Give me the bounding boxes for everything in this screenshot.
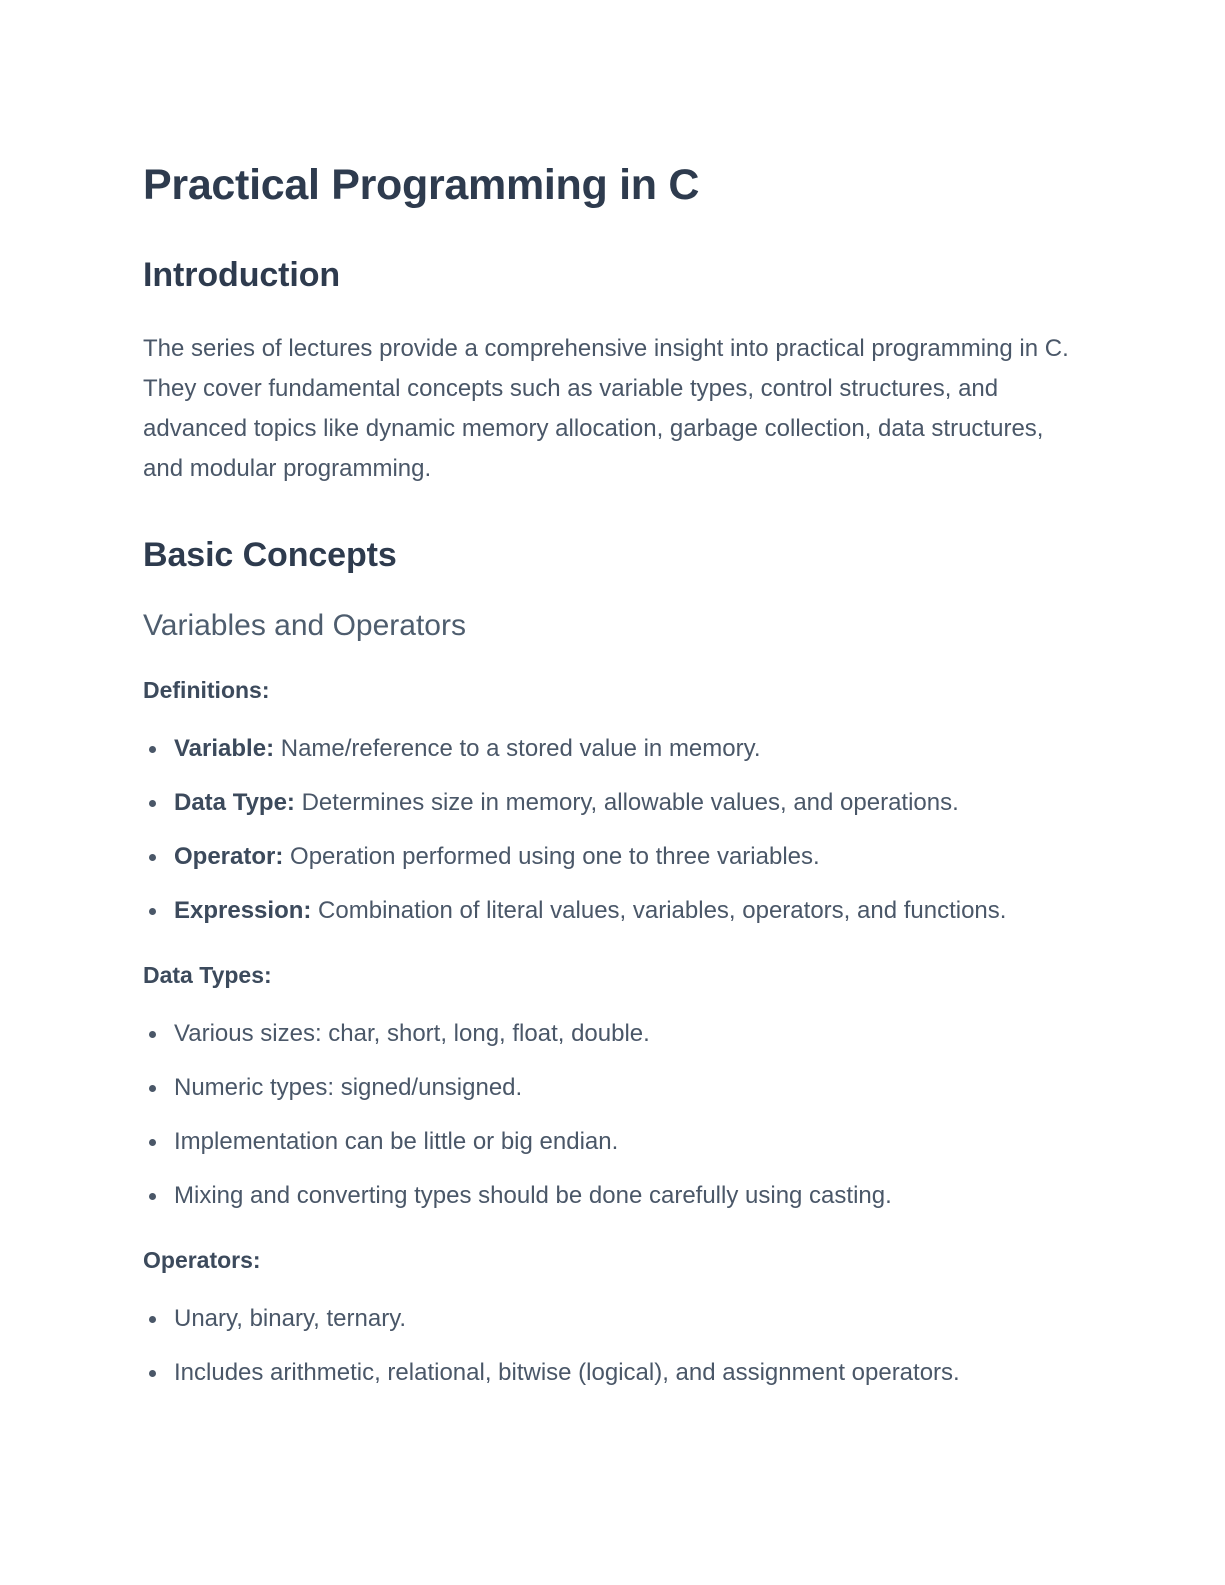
list-item-text: Includes arithmetic, relational, bitwise… [174,1359,960,1386]
bullet-dot-icon [149,1316,156,1323]
list-item-term: Expression: [174,897,311,924]
list-item: Includes arithmetic, relational, bitwise… [143,1353,1083,1393]
list-item-term: Data Type: [174,789,295,816]
list-item-text: Numeric types: signed/unsigned. [174,1074,522,1101]
section-heading-introduction: Introduction [143,255,1083,296]
list-item: Operator: Operation performed using one … [143,837,1083,877]
list-item: Expression: Combination of literal value… [143,891,1083,931]
page-title: Practical Programming in C [143,160,1083,211]
bullet-dot-icon [149,1370,156,1377]
introduction-paragraph: The series of lectures provide a compreh… [143,329,1083,489]
section-heading-basic-concepts: Basic Concepts [143,535,1083,576]
document-content: Practical Programming in C Introduction … [143,160,1083,1421]
bullet-dot-icon [149,908,156,915]
document-page: Practical Programming in C Introduction … [0,0,1225,1585]
list-item-term: Operator: [174,843,283,870]
bullet-dot-icon [149,746,156,753]
list-item-text: Combination of literal values, variables… [311,897,1006,924]
list-item: Data Type: Determines size in memory, al… [143,783,1083,823]
bullet-dot-icon [149,800,156,807]
list-item-term: Variable: [174,735,274,762]
operators-list: Unary, binary, ternary. Includes arithme… [143,1299,1083,1393]
bullet-dot-icon [149,1031,156,1038]
bullet-dot-icon [149,1139,156,1146]
list-item-text: Operation performed using one to three v… [283,843,819,870]
subsection-heading-variables-and-operators: Variables and Operators [143,608,1083,644]
list-item-text: Various sizes: char, short, long, float,… [174,1020,650,1047]
group-label-operators: Operators: [143,1246,1083,1275]
bullet-dot-icon [149,1193,156,1200]
list-item-text: Name/reference to a stored value in memo… [274,735,760,762]
bullet-dot-icon [149,854,156,861]
list-item-text: Determines size in memory, allowable val… [295,789,959,816]
list-item: Implementation can be little or big endi… [143,1122,1083,1162]
list-item: Variable: Name/reference to a stored val… [143,729,1083,769]
list-item-text: Unary, binary, ternary. [174,1305,406,1332]
bullet-dot-icon [149,1085,156,1092]
definitions-list: Variable: Name/reference to a stored val… [143,729,1083,931]
list-item-text: Implementation can be little or big endi… [174,1128,618,1155]
group-label-data-types: Data Types: [143,961,1083,990]
list-item: Numeric types: signed/unsigned. [143,1068,1083,1108]
list-item: Mixing and converting types should be do… [143,1176,1083,1216]
data-types-list: Various sizes: char, short, long, float,… [143,1014,1083,1216]
list-item-text: Mixing and converting types should be do… [174,1182,892,1209]
list-item: Various sizes: char, short, long, float,… [143,1014,1083,1054]
list-item: Unary, binary, ternary. [143,1299,1083,1339]
group-label-definitions: Definitions: [143,676,1083,705]
